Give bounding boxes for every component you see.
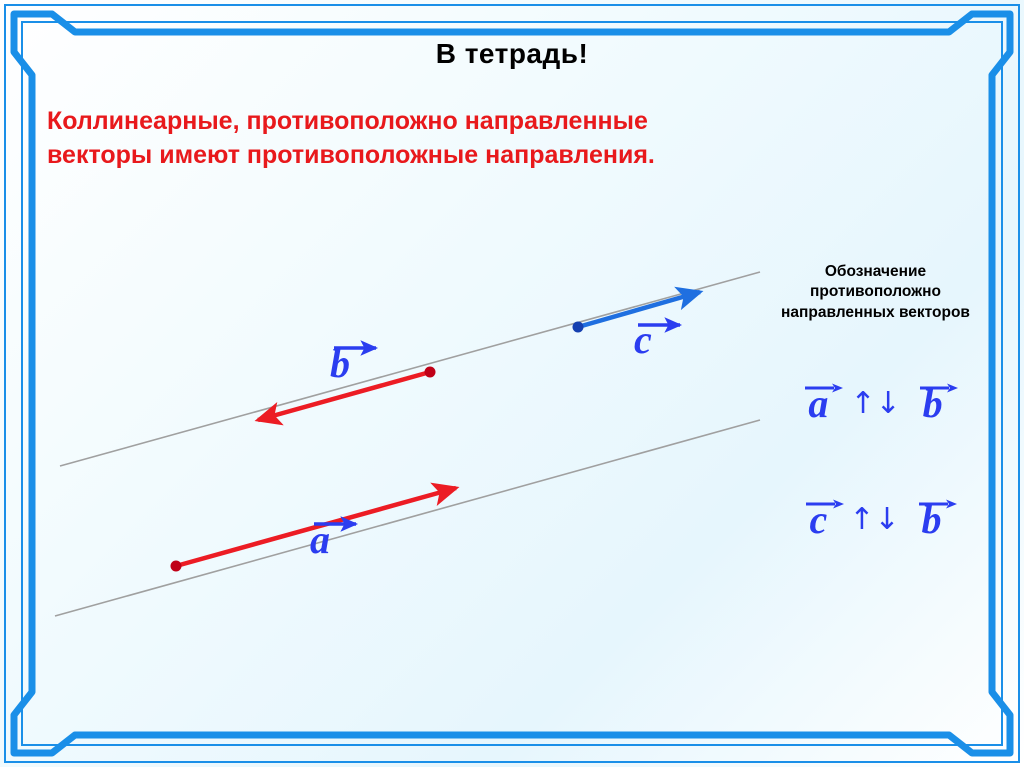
label-vector-c: c	[634, 316, 652, 363]
line-lower	[55, 420, 760, 616]
vector-b-origin-dot	[425, 367, 436, 378]
notation-vector-b: b	[921, 380, 945, 427]
notation-vector-a: a	[806, 380, 830, 427]
vector-a-origin-dot	[171, 561, 182, 572]
notation-row-cb: c ↑↓ b	[768, 496, 983, 543]
notation-row-ab: a ↑↓ b	[768, 380, 983, 427]
notation-vector-b-2: b	[920, 496, 944, 543]
overbar-arrow-icon	[918, 498, 958, 509]
slide: В тетрадь! Коллинеарные, противоположно …	[0, 0, 1024, 767]
overbar-arrow-icon	[919, 382, 959, 393]
line-upper	[60, 272, 760, 466]
vector-c-origin-dot	[573, 322, 584, 333]
label-vector-b: b	[330, 340, 350, 387]
opposite-direction-icon: ↑↓	[839, 502, 909, 537]
overbar-arrow-icon	[805, 498, 845, 509]
label-vector-a: a	[310, 516, 330, 563]
overbar-arrow-icon	[804, 382, 844, 393]
notation-vector-c: c	[807, 496, 829, 543]
opposite-direction-icon: ↑↓	[840, 386, 910, 421]
